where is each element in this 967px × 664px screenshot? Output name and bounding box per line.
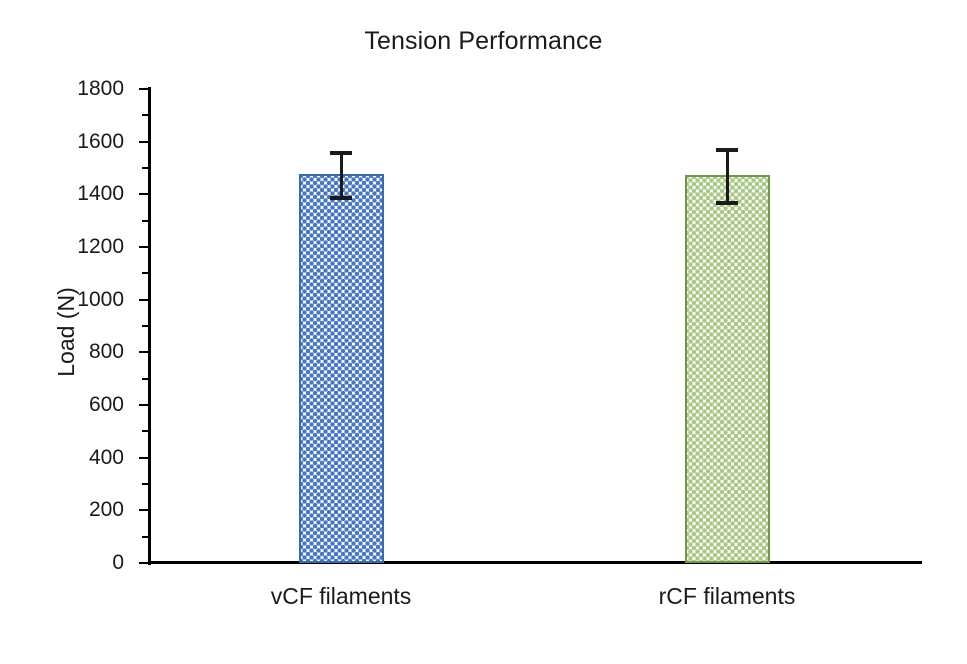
error-bar-cap-bottom — [330, 196, 352, 200]
y-tick-label-wrap: 0 — [112, 563, 124, 587]
error-bar-cap-bottom — [716, 201, 738, 205]
error-bar-cap-top — [716, 148, 738, 152]
error-bar-stem — [340, 151, 343, 201]
x-category-label-vcf: vCF filaments — [271, 583, 412, 610]
error-bar-cap-top — [330, 151, 352, 155]
bars-layer — [0, 0, 967, 563]
error-bar-rcf — [712, 148, 742, 205]
bar-rcf[interactable] — [685, 175, 770, 563]
x-category-label-rcf: rCF filaments — [659, 583, 796, 610]
error-bar-vcf — [326, 151, 356, 201]
error-bar-stem — [726, 148, 729, 205]
bar-vcf[interactable] — [299, 174, 384, 563]
chart-container: Tension Performance Load (N) 02004006008… — [0, 0, 967, 664]
